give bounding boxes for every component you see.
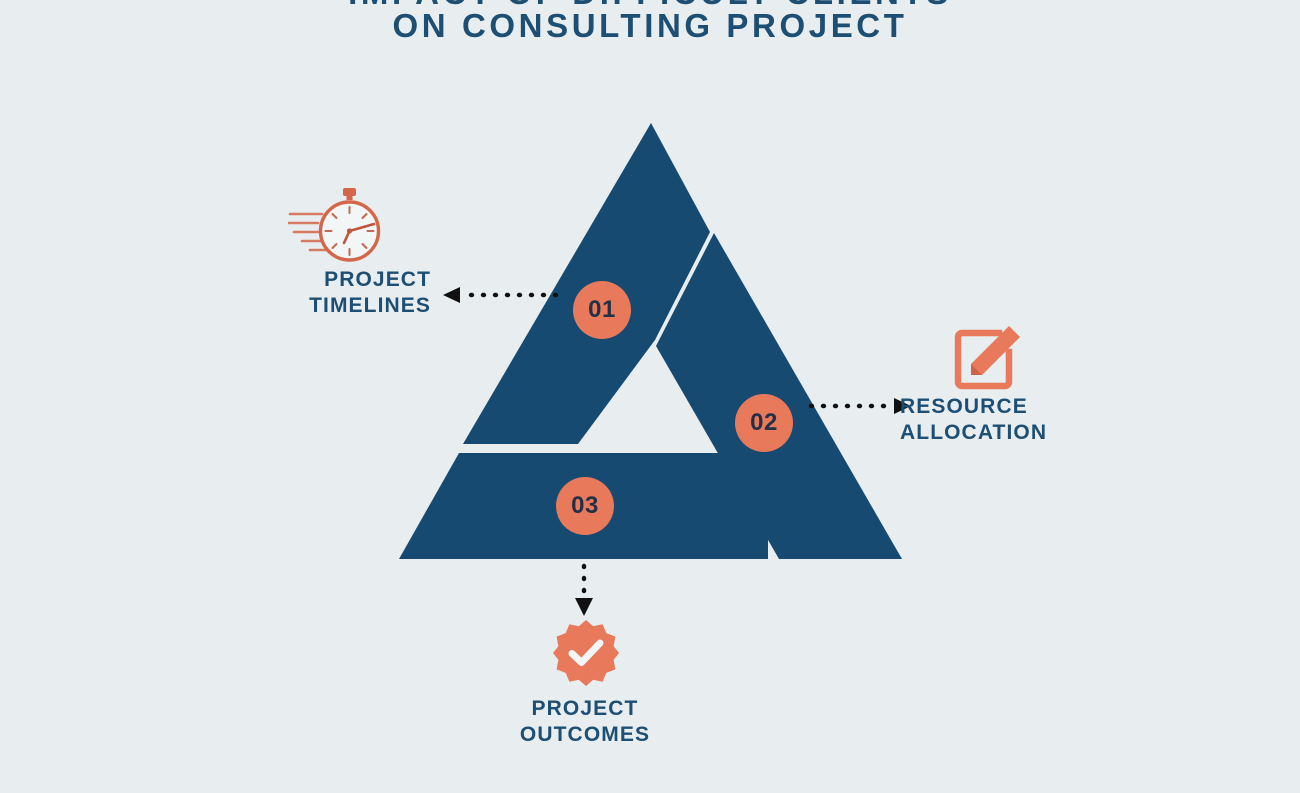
arrow-right-resource [811, 398, 911, 414]
edit-square-icon [952, 326, 1020, 392]
triangle-segment-01[interactable] [463, 123, 710, 444]
callout-label-project-timelines: PROJECT TIMELINES [180, 267, 431, 319]
callout-resource-line-2: ALLOCATION [900, 420, 1230, 446]
badge-03-number: 03 [571, 492, 599, 520]
badge-02-number: 02 [750, 409, 778, 437]
stopwatch-icon [288, 186, 392, 266]
callout-timelines-line-1: PROJECT [180, 267, 431, 293]
callout-timelines-line-2: TIMELINES [180, 293, 431, 319]
badge-01-number: 01 [588, 296, 616, 324]
badge-02[interactable]: 02 [735, 394, 793, 452]
callout-outcomes-line-2: OUTCOMES [460, 722, 710, 748]
arrow-down-head [575, 598, 593, 616]
verified-check-badge-icon [553, 620, 619, 686]
arrow-left-head [443, 287, 460, 303]
arrow-left-timelines [443, 287, 556, 303]
callout-resource-line-1: RESOURCE [900, 394, 1230, 420]
callout-label-project-outcomes: PROJECT OUTCOMES [460, 696, 710, 748]
infographic-canvas: IMPACT OF DIFFICULT CLIENTS ON CONSULTIN… [0, 0, 1300, 793]
badge-03[interactable]: 03 [556, 477, 614, 535]
arrow-down-outcomes [575, 566, 593, 616]
badge-01[interactable]: 01 [573, 281, 631, 339]
callout-outcomes-line-1: PROJECT [460, 696, 710, 722]
callout-label-resource-allocation: RESOURCE ALLOCATION [900, 394, 1230, 446]
